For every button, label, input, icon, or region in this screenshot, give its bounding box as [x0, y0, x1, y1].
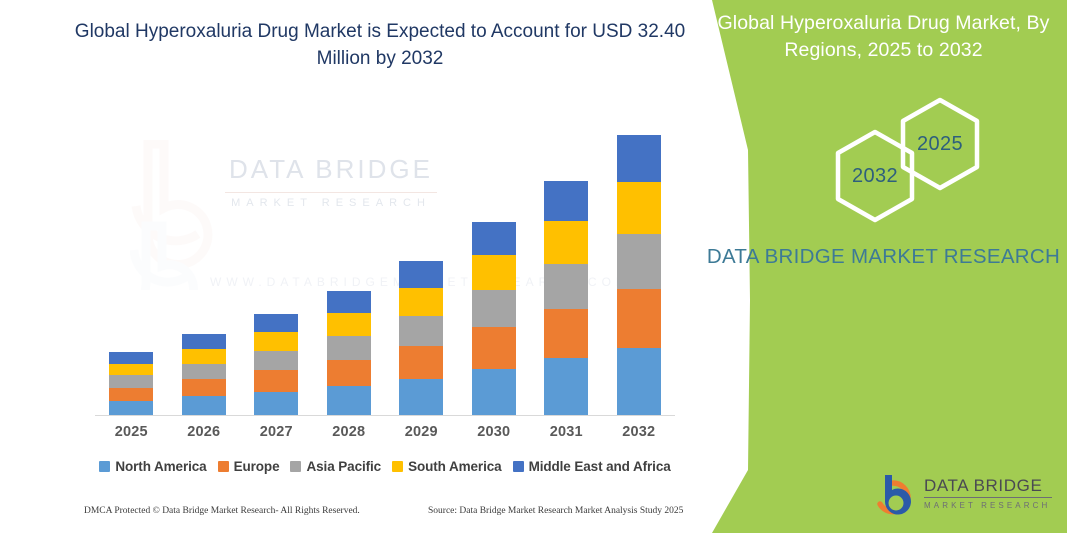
- x-axis-label-2031: 2031: [530, 424, 602, 440]
- bar-segment: [109, 352, 153, 363]
- bar-segment: [182, 349, 226, 364]
- legend-swatch-icon: [392, 461, 403, 472]
- legend-item[interactable]: South America: [392, 459, 501, 474]
- bar-segment: [109, 401, 153, 415]
- bar-2028: [327, 291, 371, 415]
- bar-segment: [182, 379, 226, 396]
- bar-segment: [472, 369, 516, 416]
- x-axis-label-2030: 2030: [458, 424, 530, 440]
- bar-segment: [544, 309, 588, 358]
- legend-swatch-icon: [513, 461, 524, 472]
- x-axis-label-2032: 2032: [603, 424, 675, 440]
- footer: DMCA Protected © Data Bridge Market Rese…: [0, 506, 690, 524]
- legend-label: Middle East and Africa: [529, 459, 671, 474]
- footer-source: Source: Data Bridge Market Research Mark…: [428, 506, 683, 516]
- bar-segment: [327, 336, 371, 360]
- bar-segment: [109, 364, 153, 376]
- bar-segment: [472, 222, 516, 255]
- bar-segment: [254, 351, 298, 371]
- legend-label: South America: [408, 459, 501, 474]
- bar-segment: [182, 334, 226, 349]
- bar-segment: [327, 313, 371, 336]
- logo-divider: [924, 497, 1052, 498]
- bar-segment: [617, 135, 661, 182]
- hexagon-label-left: 2032: [852, 165, 898, 188]
- brand-logo: DATA BRIDGE MARKET RESEARCH: [872, 472, 1052, 520]
- databridge-b-logo-icon: [872, 472, 918, 518]
- right-panel-title: Global Hyperoxaluria Drug Market, By Reg…: [700, 10, 1067, 64]
- x-axis-label-2026: 2026: [168, 424, 240, 440]
- bar-segment: [472, 255, 516, 291]
- bar-segment: [254, 314, 298, 332]
- bar-segment: [617, 289, 661, 347]
- logo-subtitle: MARKET RESEARCH: [924, 500, 1052, 511]
- bar-2026: [182, 334, 226, 415]
- x-axis-line: [95, 415, 675, 416]
- bar-segment: [544, 264, 588, 310]
- legend-label: North America: [115, 459, 206, 474]
- legend-swatch-icon: [99, 461, 110, 472]
- bar-segment: [617, 182, 661, 234]
- legend-item[interactable]: Asia Pacific: [290, 459, 381, 474]
- x-axis-label-2029: 2029: [385, 424, 457, 440]
- chart-legend: North AmericaEuropeAsia PacificSouth Ame…: [95, 455, 675, 477]
- legend-swatch-icon: [218, 461, 229, 472]
- infographic-page: Global Hyperoxaluria Drug Market is Expe…: [0, 0, 1067, 533]
- bar-segment: [399, 316, 443, 346]
- bar-2032: [617, 135, 661, 415]
- bar-2025: [109, 352, 153, 415]
- bar-segment: [254, 332, 298, 351]
- legend-item[interactable]: Europe: [218, 459, 280, 474]
- x-axis-label-2028: 2028: [313, 424, 385, 440]
- x-axis-label-2025: 2025: [95, 424, 167, 440]
- bar-segment: [399, 288, 443, 316]
- bar-segment: [182, 396, 226, 415]
- hexagon-label-right: 2025: [917, 133, 963, 156]
- legend-label: Asia Pacific: [306, 459, 381, 474]
- x-axis-labels: 20252026202720282029203020312032: [95, 424, 675, 446]
- bar-segment: [399, 379, 443, 415]
- legend-label: Europe: [234, 459, 280, 474]
- logo-name: DATA BRIDGE: [924, 476, 1052, 495]
- legend-item[interactable]: Middle East and Africa: [513, 459, 671, 474]
- bar-2030: [472, 222, 516, 415]
- bar-segment: [472, 290, 516, 327]
- logo-text: DATA BRIDGE MARKET RESEARCH: [924, 476, 1052, 511]
- bar-segment: [617, 234, 661, 289]
- bar-segment: [327, 291, 371, 312]
- bar-segment: [544, 358, 588, 415]
- bar-segment: [109, 375, 153, 387]
- bar-segment: [617, 348, 661, 415]
- bar-segment: [544, 221, 588, 264]
- bar-segment: [109, 388, 153, 401]
- bar-segment: [399, 261, 443, 287]
- bar-segment: [327, 386, 371, 415]
- bar-segment: [182, 364, 226, 380]
- hexagon-badge-2025: 2025: [897, 96, 983, 192]
- bar-2031: [544, 181, 588, 415]
- right-panel-brand: DATA BRIDGE MARKET RESEARCH: [700, 243, 1067, 271]
- bar-segment: [254, 392, 298, 415]
- bar-2027: [254, 314, 298, 415]
- bar-segment: [544, 181, 588, 221]
- bar-2029: [399, 261, 443, 415]
- footer-copyright: DMCA Protected © Data Bridge Market Rese…: [84, 506, 360, 516]
- bar-segment: [472, 327, 516, 368]
- legend-item[interactable]: North America: [99, 459, 206, 474]
- bar-segment: [327, 360, 371, 386]
- legend-swatch-icon: [290, 461, 301, 472]
- page-title: Global Hyperoxaluria Drug Market is Expe…: [70, 18, 690, 72]
- bar-segment: [254, 370, 298, 391]
- bar-segment: [399, 346, 443, 379]
- stacked-bar-chart: [95, 120, 675, 416]
- x-axis-label-2027: 2027: [240, 424, 312, 440]
